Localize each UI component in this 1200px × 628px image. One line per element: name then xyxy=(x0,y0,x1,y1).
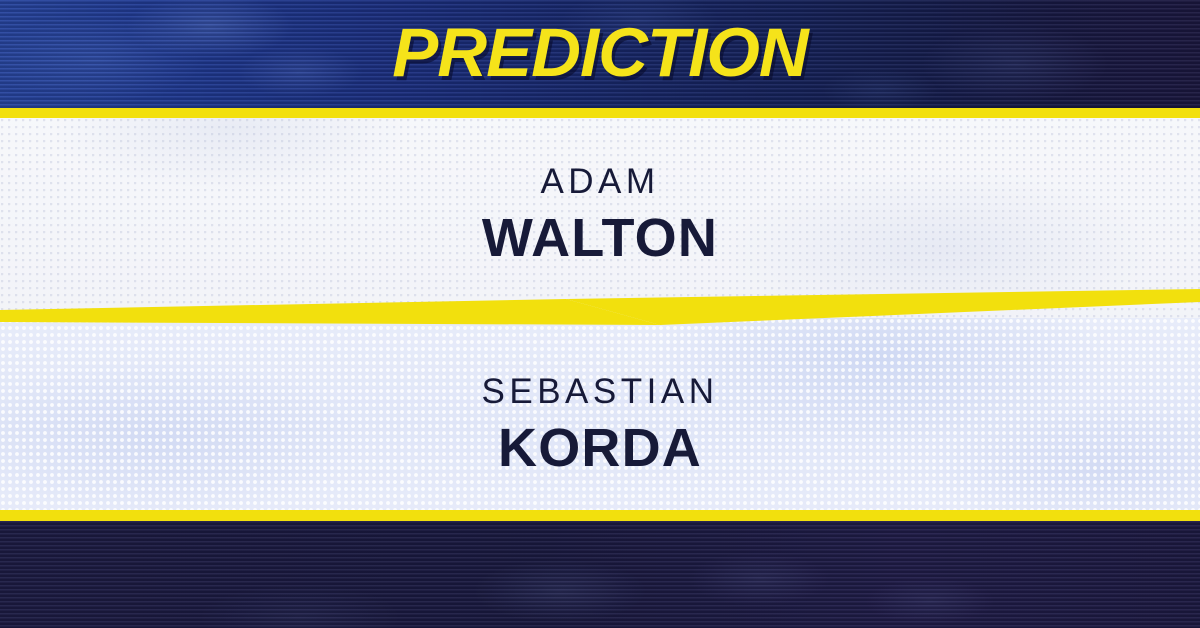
player-last-name-top: WALTON xyxy=(0,211,1200,265)
top-accent-rule xyxy=(0,108,1200,118)
player-first-name-bottom: SEBASTIAN xyxy=(0,374,1200,409)
player-last-name-bottom: KORDA xyxy=(0,421,1200,475)
player-name-bottom: SEBASTIAN KORDA xyxy=(0,374,1200,475)
bottom-accent-rule xyxy=(0,510,1200,521)
player-name-top: ADAM WALTON xyxy=(0,164,1200,265)
prediction-graphic: PREDICTION ADAM WALTON SEBASTIAN KORDA xyxy=(0,0,1200,628)
footer-background-texture xyxy=(0,521,1200,628)
footer-banner xyxy=(0,521,1200,628)
player-first-name-top: ADAM xyxy=(0,164,1200,199)
page-title: PREDICTION xyxy=(0,0,1200,108)
